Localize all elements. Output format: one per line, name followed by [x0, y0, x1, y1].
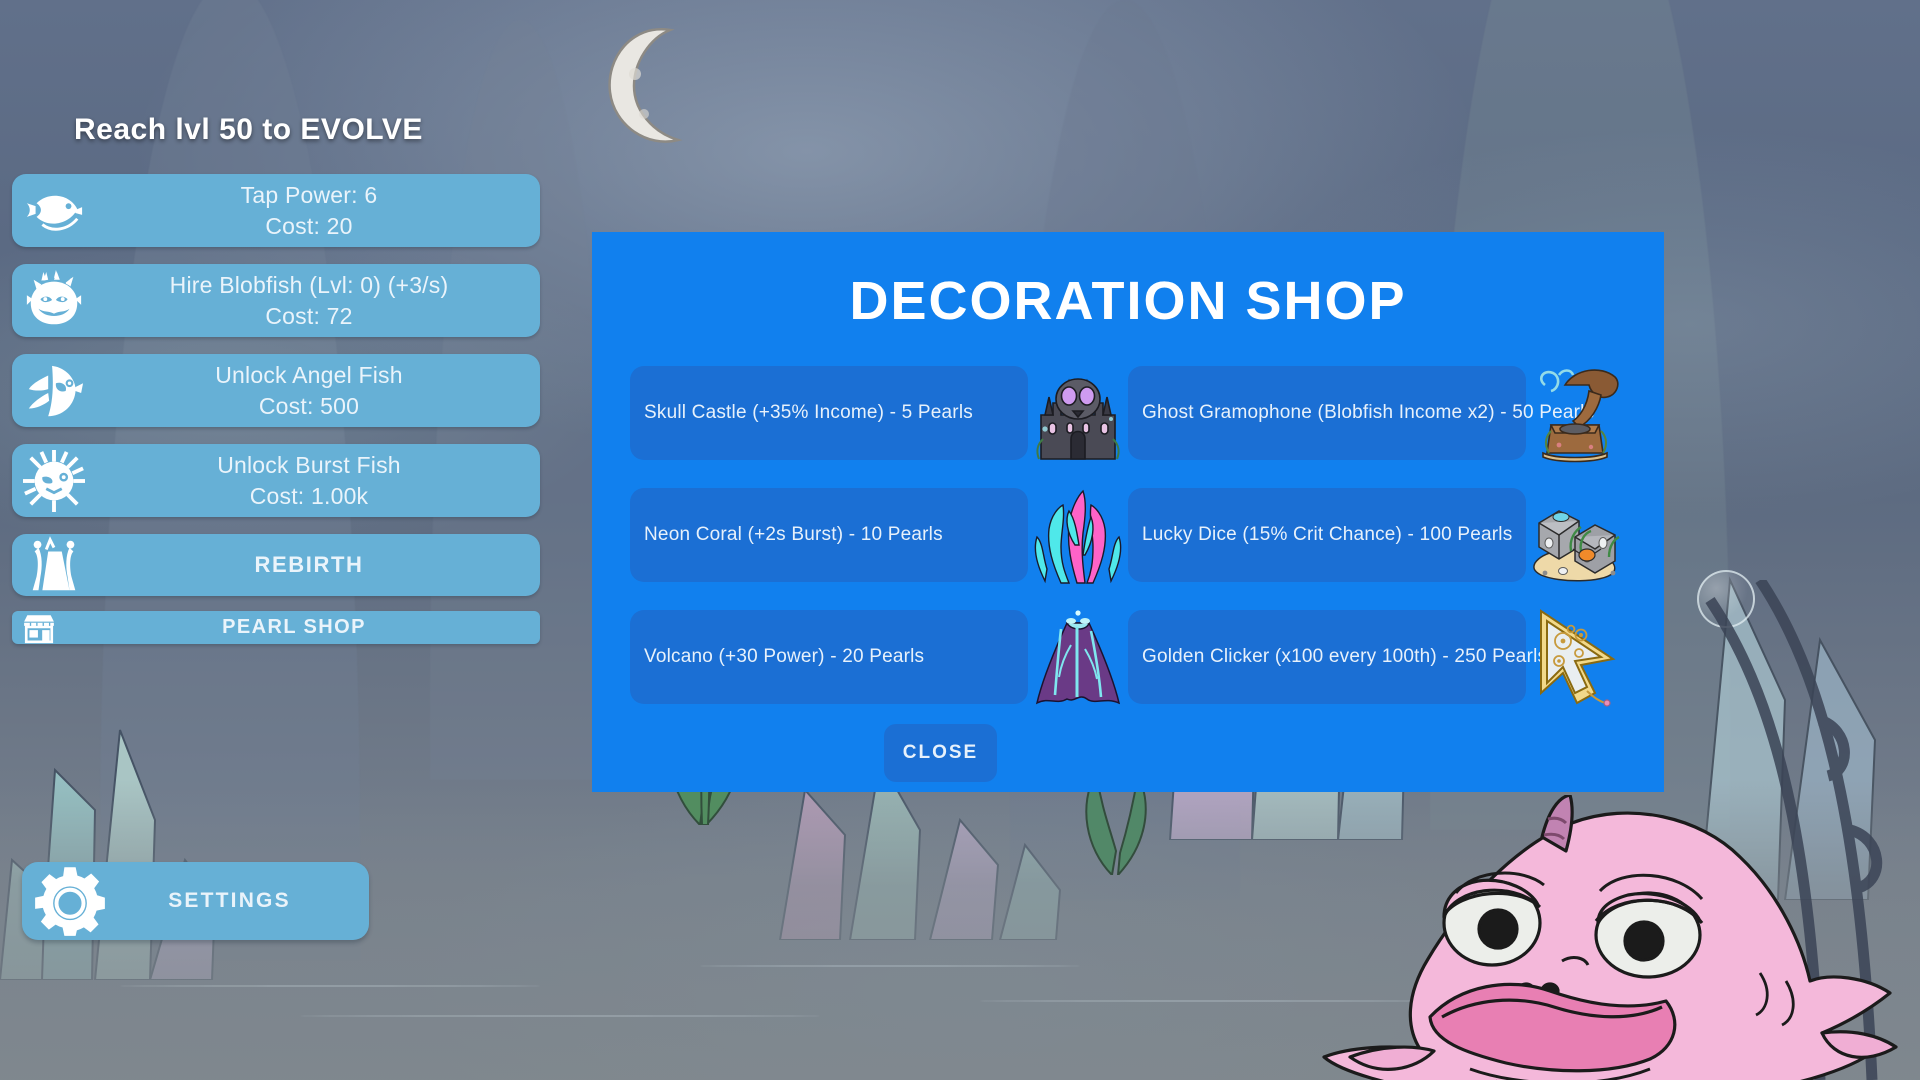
shop-cell: Neon Coral (+2s Burst) - 10 Pearls [630, 488, 1128, 582]
rebirth-text: REBIRTH [96, 552, 540, 578]
upgrade-text: Unlock Angel Fish Cost: 500 [96, 362, 540, 420]
golden-clicker-icon [1528, 607, 1624, 707]
ghost-gramophone-icon [1528, 363, 1624, 463]
rebirth-button[interactable]: REBIRTH [12, 534, 540, 596]
shop-item-grid: Skull Castle (+35% Income) - 5 Pearls [630, 366, 1626, 704]
rebirth-label: REBIRTH [255, 552, 364, 578]
modal-title: DECORATION SHOP [592, 270, 1664, 332]
upgrade-button-unlock-angel-fish[interactable]: Unlock Angel Fish Cost: 500 [12, 354, 540, 427]
gear-icon [22, 865, 118, 937]
upgrade-button-hire-blobfish[interactable]: Hire Blobfish (Lvl: 0) (+3/s) Cost: 72 [12, 264, 540, 337]
altar-icon [12, 534, 96, 596]
shop-row: Volcano (+30 Power) - 20 Pearls [630, 610, 1626, 704]
water-ripple [300, 1015, 820, 1017]
burst-fish-icon [12, 444, 96, 517]
skull-castle-icon [1030, 363, 1126, 463]
upgrade-cost: Cost: 72 [265, 303, 352, 330]
pearl-shop-label: PEARL SHOP [222, 616, 366, 639]
neon-coral-icon [1030, 485, 1126, 585]
water-ripple [700, 965, 1080, 967]
upgrade-cost: Cost: 500 [259, 393, 359, 420]
crescent-moon-icon [592, 22, 696, 148]
buy-button-neon-coral[interactable]: Neon Coral (+2s Burst) - 10 Pearls [630, 488, 1028, 582]
settings-button[interactable]: SETTINGS [22, 862, 369, 940]
upgrade-title: Unlock Angel Fish [215, 362, 403, 389]
upgrade-cost: Cost: 1.00k [250, 483, 369, 510]
close-button[interactable]: CLOSE [884, 724, 997, 782]
upgrade-cost: Cost: 20 [265, 213, 352, 240]
pearl-shop-text: PEARL SHOP [66, 616, 540, 639]
blobfish-mascot[interactable] [1310, 795, 1920, 1080]
upgrade-title: Unlock Burst Fish [217, 452, 401, 479]
shop-item-label: Skull Castle (+35% Income) - 5 Pearls [644, 402, 973, 424]
shop-item-label: Neon Coral (+2s Burst) - 10 Pearls [644, 524, 943, 546]
upgrade-button-unlock-burst-fish[interactable]: Unlock Burst Fish Cost: 1.00k [12, 444, 540, 517]
upgrade-button-tap-power[interactable]: Tap Power: 6 Cost: 20 [12, 174, 540, 247]
lucky-dice-icon [1528, 485, 1624, 585]
upgrade-text: Tap Power: 6 Cost: 20 [96, 182, 540, 240]
shop-stall-icon [12, 611, 66, 644]
close-label: CLOSE [903, 742, 978, 764]
decoration-shop-modal: DECORATION SHOP Skull Castle (+35% Incom… [592, 232, 1664, 792]
upgrade-title: Tap Power: 6 [241, 182, 378, 209]
shop-cell: Volcano (+30 Power) - 20 Pearls [630, 610, 1128, 704]
buy-button-ghost-gramophone[interactable]: Ghost Gramophone (Blobfish Income x2) - … [1128, 366, 1526, 460]
evolve-banner: Reach lvl 50 to EVOLVE [74, 113, 423, 147]
shop-cell: Lucky Dice (15% Crit Chance) - 100 Pearl… [1128, 488, 1626, 582]
shop-row: Skull Castle (+35% Income) - 5 Pearls [630, 366, 1626, 460]
buy-button-skull-castle[interactable]: Skull Castle (+35% Income) - 5 Pearls [630, 366, 1028, 460]
buy-button-lucky-dice[interactable]: Lucky Dice (15% Crit Chance) - 100 Pearl… [1128, 488, 1526, 582]
shop-item-label: Golden Clicker (x100 every 100th) - 250 … [1142, 646, 1547, 668]
water-ripple [120, 985, 540, 987]
shop-cell: Golden Clicker (x100 every 100th) - 250 … [1128, 610, 1626, 704]
shop-item-label: Volcano (+30 Power) - 20 Pearls [644, 646, 924, 668]
shop-cell: Ghost Gramophone (Blobfish Income x2) - … [1128, 366, 1626, 460]
blobfish-icon [12, 264, 96, 337]
shop-row: Neon Coral (+2s Burst) - 10 Pearls [630, 488, 1626, 582]
upgrade-title: Hire Blobfish (Lvl: 0) (+3/s) [170, 272, 449, 299]
upgrade-list: Tap Power: 6 Cost: 20 Hire Blobfish (Lvl… [12, 174, 540, 661]
shop-item-label: Ghost Gramophone (Blobfish Income x2) - … [1142, 402, 1594, 424]
settings-label: SETTINGS [118, 889, 369, 913]
angel-fish-icon [12, 354, 96, 427]
upgrade-text: Hire Blobfish (Lvl: 0) (+3/s) Cost: 72 [96, 272, 540, 330]
upgrade-text: Unlock Burst Fish Cost: 1.00k [96, 452, 540, 510]
buy-button-volcano[interactable]: Volcano (+30 Power) - 20 Pearls [630, 610, 1028, 704]
shop-item-label: Lucky Dice (15% Crit Chance) - 100 Pearl… [1142, 524, 1512, 546]
volcano-icon [1030, 607, 1126, 707]
buy-button-golden-clicker[interactable]: Golden Clicker (x100 every 100th) - 250 … [1128, 610, 1526, 704]
flounder-fish-icon [12, 174, 96, 247]
pearl-shop-button[interactable]: PEARL SHOP [12, 611, 540, 644]
shop-cell: Skull Castle (+35% Income) - 5 Pearls [630, 366, 1128, 460]
